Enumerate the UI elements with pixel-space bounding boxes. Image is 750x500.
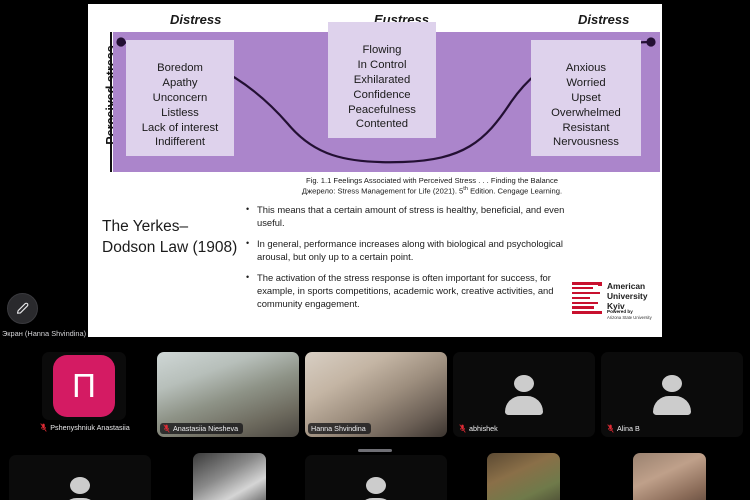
zone-label-distress-right: Distress	[578, 12, 629, 27]
figure-caption-line2: Джерело: Stress Management for Life (202…	[222, 186, 642, 197]
avatar	[501, 375, 547, 415]
screen-share-label: Экран (Hanna Shvindina)	[2, 329, 86, 338]
participant-name-label: Hanna Shvindina	[308, 423, 371, 434]
participant-name-label: Anastasiia Niesheva	[160, 423, 243, 434]
feelings-text-mid: Flowing In Control Exhilarated Confidenc…	[348, 44, 416, 131]
list-item: In general, performance increases along …	[246, 238, 586, 264]
participant-name-label: Alina B	[604, 423, 645, 434]
figure-caption-line1: Fig. 1.1 Feelings Associated with Percei…	[222, 176, 642, 186]
avatar-head-icon	[662, 375, 682, 392]
avatar-body-icon	[653, 396, 691, 415]
avatar-head-icon	[514, 375, 534, 392]
zone-label-distress-left: Distress	[170, 12, 221, 27]
logo-line-2: University	[607, 291, 648, 301]
caption-source-prefix: Джерело: Stress Management for Life (202…	[302, 187, 463, 196]
slide-bullet-list: This means that a certain amount of stre…	[246, 204, 586, 319]
avatar	[353, 477, 399, 500]
list-item: The activation of the stress response is…	[246, 272, 586, 311]
feelings-text-right: Anxious Worried Upset Overwhelmed Resist…	[551, 62, 621, 149]
mic-muted-icon	[163, 424, 170, 433]
participant-tile[interactable]: П	[42, 352, 126, 420]
caption-source-suffix: Edition. Cengage Learning.	[468, 187, 562, 196]
curve-endpoint-right	[646, 37, 655, 46]
participant-tile[interactable]	[305, 455, 447, 500]
participant-tile[interactable]	[193, 453, 266, 500]
drag-handle[interactable]	[358, 449, 392, 452]
zoom-meeting-window: Distress Eustress Distress Perceived str…	[0, 0, 750, 500]
logo-line-1: American	[607, 281, 648, 291]
avatar-head-icon	[366, 477, 386, 494]
participant-name-label: Pshenyshniuk Anastasiia	[10, 423, 160, 432]
annotate-button[interactable]	[7, 293, 38, 324]
participant-tile[interactable]	[487, 453, 560, 500]
curve-endpoint-left	[116, 37, 125, 46]
mic-muted-icon	[459, 424, 466, 433]
logo-dot-icon	[598, 282, 602, 286]
american-university-kyiv-logo: American University Kyiv Powered by Ariz…	[572, 276, 658, 322]
logo-wordmark: American University Kyiv	[607, 281, 648, 311]
feelings-box-eustress: Flowing In Control Exhilarated Confidenc…	[328, 22, 436, 138]
mic-muted-icon	[40, 423, 47, 432]
logo-parent-institution: Arizona State University	[607, 315, 652, 320]
participant-name-text: abhishek	[469, 424, 498, 433]
participant-name-text: Hanna Shvindina	[311, 424, 366, 433]
participant-tile[interactable]	[633, 453, 706, 500]
mic-muted-icon	[607, 424, 614, 433]
participant-name-label: abhishek	[456, 423, 503, 434]
participant-name-text: Alina B	[617, 424, 640, 433]
logo-powered-by: Powered by Arizona State University	[607, 309, 652, 320]
participant-tile[interactable]	[9, 455, 151, 500]
avatar-head-icon	[70, 477, 90, 494]
participant-tile[interactable]: Hanna Shvindina	[305, 352, 447, 437]
participant-tile[interactable]: abhishek	[453, 352, 595, 437]
avatar: П	[53, 355, 115, 417]
participant-name-text: Anastasiia Niesheva	[173, 424, 238, 433]
feelings-text-left: Boredom Apathy Unconcern Listless Lack o…	[142, 62, 219, 149]
feelings-box-distress-left: Boredom Apathy Unconcern Listless Lack o…	[126, 40, 234, 156]
logo-bars-icon	[572, 282, 602, 312]
page-title: The Yerkes– Dodson Law (1908)	[102, 216, 238, 258]
figure-caption: Fig. 1.1 Feelings Associated with Percei…	[222, 176, 642, 197]
participant-tile[interactable]: Anastasiia Niesheva	[157, 352, 299, 437]
participant-tile[interactable]: Alina B	[601, 352, 743, 437]
list-item: This means that a certain amount of stre…	[246, 204, 586, 230]
avatar	[57, 477, 103, 500]
feelings-box-distress-right: Anxious Worried Upset Overwhelmed Resist…	[531, 40, 641, 156]
yerkes-dodson-figure: Distress Eustress Distress Perceived str…	[88, 4, 662, 204]
pencil-annotate-icon	[15, 301, 30, 316]
avatar-body-icon	[505, 396, 543, 415]
participant-name-text: Pshenyshniuk Anastasiia	[50, 423, 130, 432]
avatar	[649, 375, 695, 415]
shared-slide: Distress Eustress Distress Perceived str…	[88, 4, 662, 337]
